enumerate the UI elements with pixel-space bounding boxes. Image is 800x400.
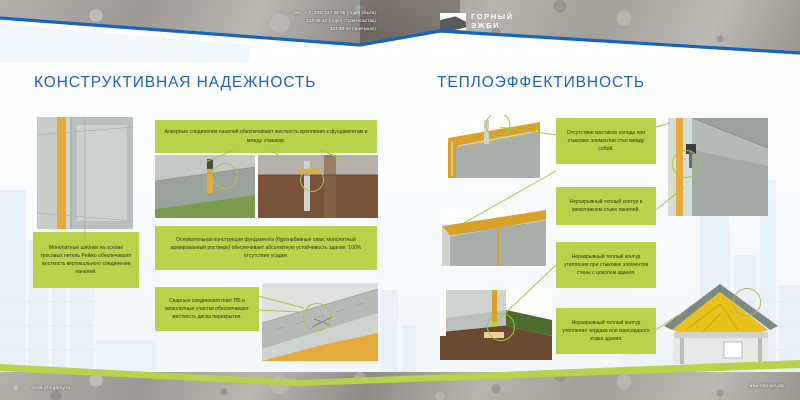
leader-lines-anchors [200, 150, 380, 162]
image-wall-panel-vertical-joint [37, 117, 133, 229]
company-logo[interactable]: ГОРНЫЙ ЭЖБИ [440, 13, 514, 30]
section-title-thermal-efficiency: ТЕПЛОЭФФЕКТИВНОСТЬ [437, 74, 645, 92]
callout-welded-slab-joints: Сварные соединения плит ПБ и монолитные … [155, 287, 259, 331]
zoom-ring-anchor-1 [212, 163, 238, 189]
callout-monolithic-keys: Монолитные шпонки на основе тросовых пет… [33, 232, 139, 288]
phone-construction: 214-25-43 (отдел строительства) [293, 17, 376, 25]
page-number: 8 [14, 385, 18, 392]
callout-foundation-structure: Основательная конструкция фундамента (бу… [155, 226, 377, 270]
logo-text: ГОРНЫЙ ЭЖБИ [471, 13, 514, 29]
phone-sales: тел.: + 7 (383) 347-36-05 (отдел сбыта) [293, 9, 376, 17]
callout-anchor-connections-text: Анкерные соединения панелей обеспечивают… [161, 128, 371, 145]
brochure-page: тел.: + 7 (383) 347-36-05 (отдел сбыта) … [0, 0, 800, 400]
header-phone-numbers: тел.: + 7 (383) 347-36-05 (отдел сбыта) … [293, 9, 376, 33]
callout-foundation-structure-text: Основательная конструкция фундамента (бу… [161, 236, 371, 261]
footer-green-wedge [0, 360, 800, 386]
image-panel-anchor-detail [155, 155, 255, 218]
zoom-ring-anchor-2 [300, 168, 324, 192]
callout-anchor-connections: Анкерные соединения панелей обеспечивают… [155, 120, 377, 153]
logo-line-2: ЭЖБИ [471, 22, 514, 30]
leader-line-monolithic-keys [60, 225, 110, 237]
blue-ribbon-divider [0, 0, 800, 62]
callout-monolithic-keys-text: Монолитные шпонки на основе тросовых пет… [39, 244, 133, 277]
footer-site-left[interactable]: www.jzbi-gorny.ru [32, 385, 70, 390]
mountain-logo-icon [440, 13, 466, 30]
footer-site-right[interactable]: жби-горный.рф [749, 383, 784, 388]
callout-welded-slab-joints-text: Сварные соединения плит ПБ и монолитные … [161, 297, 253, 322]
leader-lines-thermal [438, 115, 788, 365]
phone-reception: 347-36-65 (приёмная) [293, 25, 376, 33]
section-title-constructive-reliability: КОНСТРУКТИВНАЯ НАДЕЖНОСТЬ [34, 74, 316, 92]
leader-line-welded-slabs [258, 290, 318, 316]
